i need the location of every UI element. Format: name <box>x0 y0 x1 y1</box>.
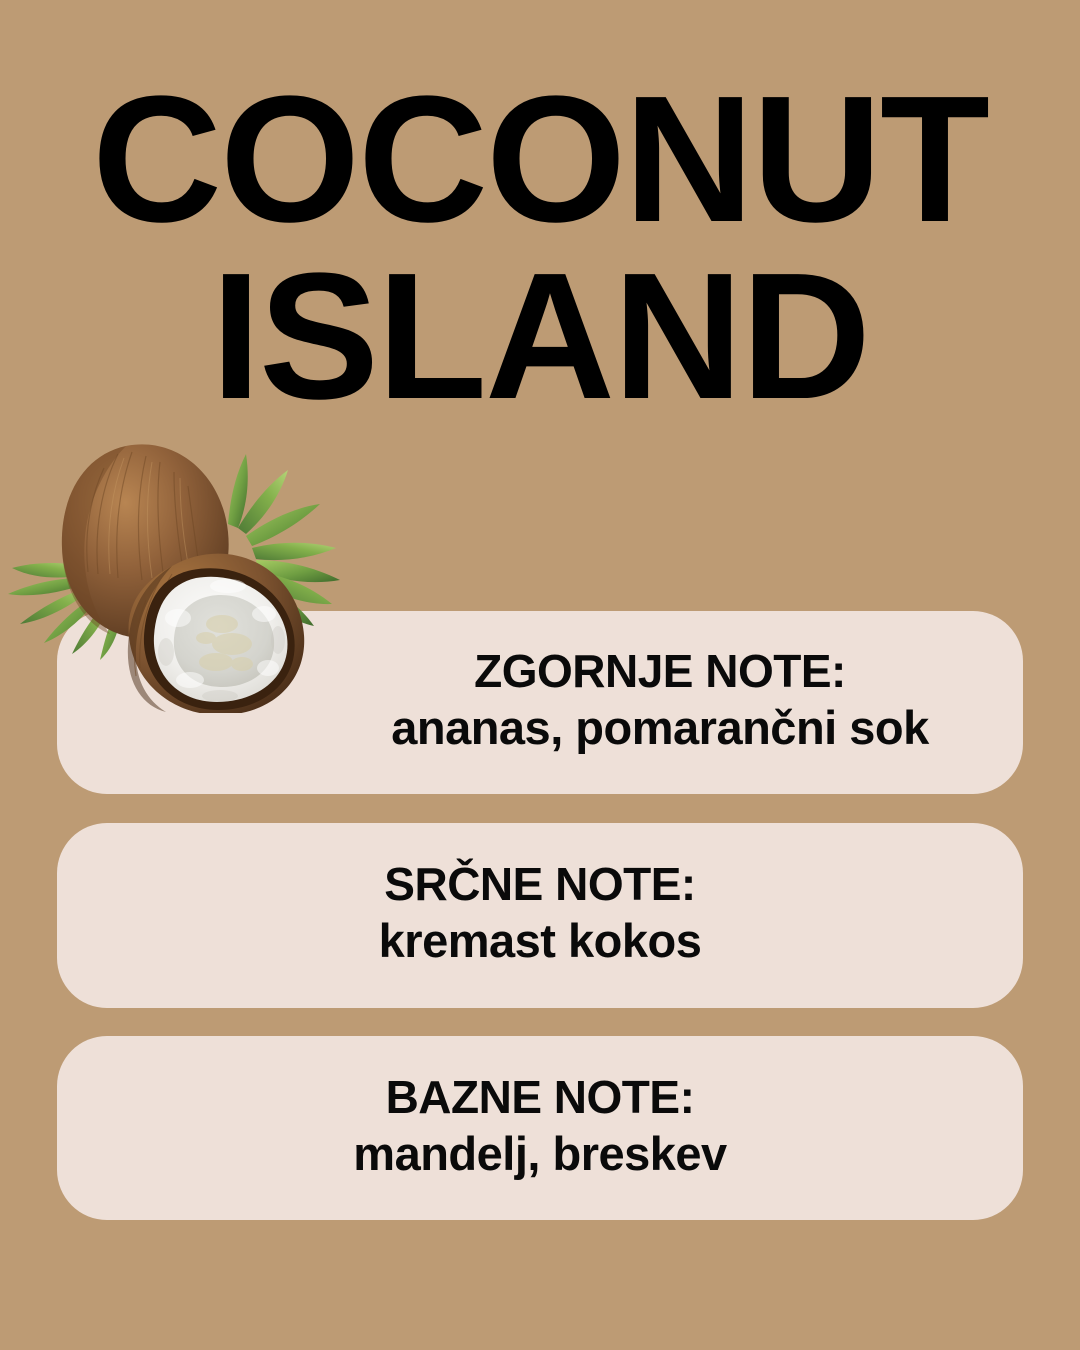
note-card-content: BAZNE NOTE: mandelj, breskev <box>91 1062 989 1190</box>
page-title: COCONUT ISLAND <box>0 74 1080 424</box>
note-body: mandelj, breskev <box>91 1128 989 1180</box>
note-body: ananas, pomarančni sok <box>331 702 989 754</box>
notes-list: ZGORNJE NOTE: ananas, pomarančni sok SRČ… <box>57 611 1023 1220</box>
note-card-content: SRČNE NOTE: kremast kokos <box>91 849 989 978</box>
note-card-heart-notes: SRČNE NOTE: kremast kokos <box>57 823 1023 1008</box>
leaf-cluster-right <box>228 454 340 626</box>
whole-coconut <box>62 444 229 638</box>
title-line-2: ISLAND <box>0 251 1080 424</box>
note-card-base-notes: BAZNE NOTE: mandelj, breskev <box>57 1036 1023 1220</box>
note-body: kremast kokos <box>91 915 989 967</box>
title-line-1: COCONUT <box>0 74 1080 247</box>
poster-canvas: COCONUT ISLAND ZGORNJE NOTE: ananas, pom… <box>0 0 1080 1350</box>
note-heading: SRČNE NOTE: <box>91 860 989 909</box>
note-heading: ZGORNJE NOTE: <box>331 647 989 696</box>
note-card-top-notes: ZGORNJE NOTE: ananas, pomarančni sok <box>57 611 1023 794</box>
note-card-content: ZGORNJE NOTE: ananas, pomarančni sok <box>91 637 989 764</box>
note-heading: BAZNE NOTE: <box>91 1073 989 1122</box>
